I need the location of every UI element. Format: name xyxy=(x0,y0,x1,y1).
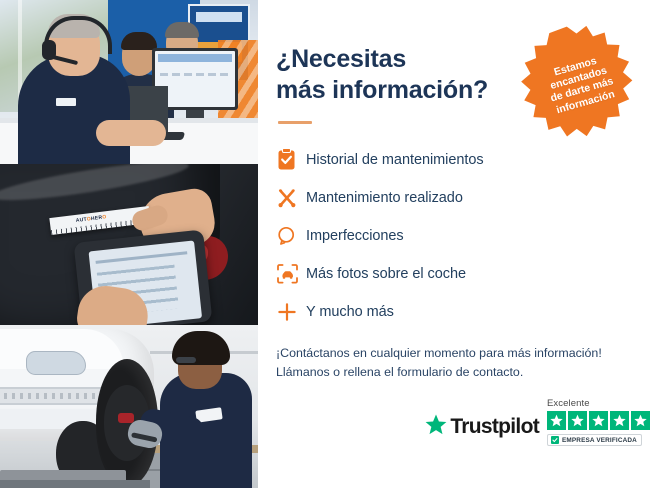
promo-starburst-badge: Estamos encantados de darte más informac… xyxy=(506,10,650,159)
trustpilot-wordmark: Trustpilot xyxy=(450,415,539,439)
car-inspection-ruler-photo: AUTOHERO xyxy=(0,164,258,325)
trustpilot-logo: Trustpilot xyxy=(425,414,539,446)
trustpilot-stars xyxy=(547,411,650,430)
check-icon xyxy=(551,436,559,444)
headline-line-2: más información? xyxy=(276,76,488,104)
feature-label: Mantenimiento realizado xyxy=(306,190,463,206)
star-icon xyxy=(610,411,629,430)
feature-label: Más fotos sobre el coche xyxy=(306,266,466,282)
feature-list: Historial de mantenimientos M xyxy=(276,144,650,328)
plus-icon xyxy=(276,301,306,323)
feature-item-much-more: Y mucho más xyxy=(276,296,650,328)
content-panel: ¿Necesitas más información? Historial de… xyxy=(258,0,650,488)
contact-text: ¡Contáctanos en cualquier momento para m… xyxy=(276,344,624,381)
contact-line-2: Llámanos o rellena el formulario de cont… xyxy=(276,365,523,379)
star-icon xyxy=(631,411,650,430)
trustpilot-star-icon xyxy=(425,414,447,440)
magnifier-icon xyxy=(276,225,306,247)
feature-item-more-photos: Más fotos sobre el coche xyxy=(276,258,650,290)
verified-label: EMPRESA VERIFICADA xyxy=(562,437,637,444)
trustpilot-rating[interactable]: Trustpilot Excelente EMPRESA VERIFICADA xyxy=(425,398,650,446)
star-icon xyxy=(568,411,587,430)
title-underline xyxy=(278,121,312,124)
feature-item-imperfections: Imperfecciones xyxy=(276,220,650,252)
call-center-agents-photo xyxy=(0,0,258,164)
feature-item-maintenance-done: Mantenimiento realizado xyxy=(276,182,650,214)
trustpilot-rating-label: Excelente xyxy=(547,398,590,409)
star-icon xyxy=(547,411,566,430)
feature-label: Historial de mantenimientos xyxy=(306,152,484,168)
clipboard-check-icon xyxy=(276,148,306,172)
car-scan-icon xyxy=(276,263,306,285)
feature-label: Imperfecciones xyxy=(306,228,404,244)
badge-text: Estamos encantados de darte más informac… xyxy=(542,52,618,117)
star-icon xyxy=(589,411,608,430)
photo-column: AUTOHERO xyxy=(0,0,258,488)
headline-line-1: ¿Necesitas xyxy=(276,45,406,73)
feature-item-maintenance-history: Historial de mantenimientos xyxy=(276,144,650,176)
mechanic-wheel-photo xyxy=(0,325,258,488)
feature-label: Y mucho más xyxy=(306,304,394,320)
promo-banner: AUTOHERO xyxy=(0,0,650,488)
verified-company-badge: EMPRESA VERIFICADA xyxy=(547,434,642,446)
tools-cross-icon xyxy=(276,187,306,209)
contact-line-1: ¡Contáctanos en cualquier momento para m… xyxy=(276,346,602,360)
